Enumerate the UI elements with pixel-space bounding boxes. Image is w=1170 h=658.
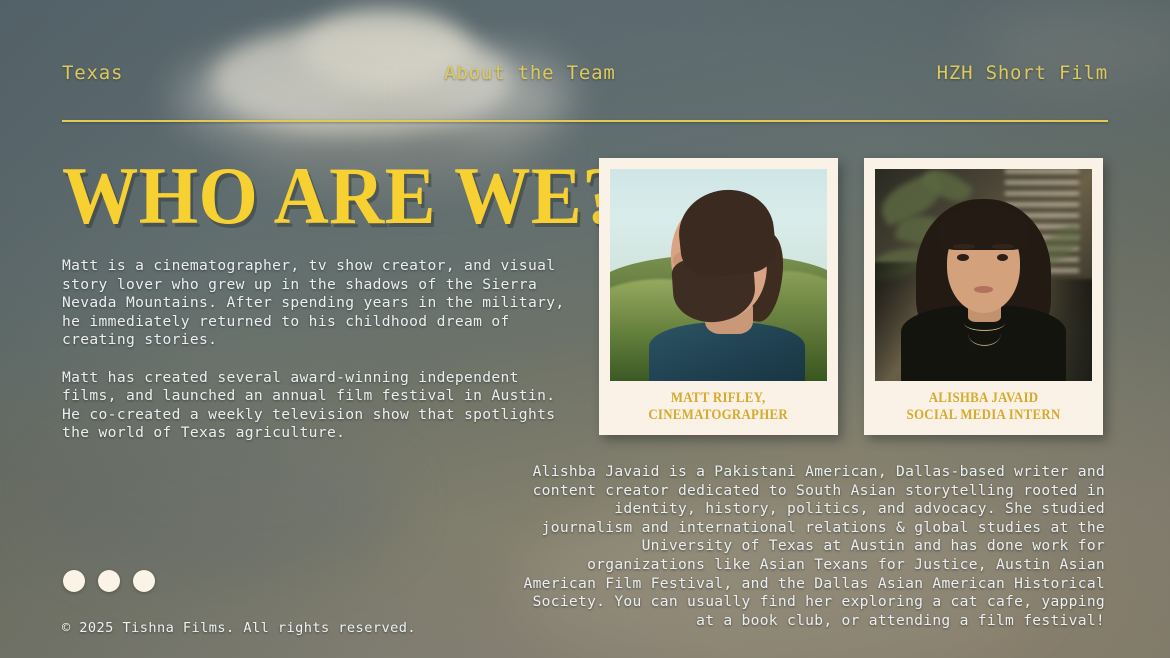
team-card-caption-matt: MATT RIFLEY, CINEMATOGRAPHER <box>649 381 789 435</box>
team-polaroid-gallery: MATT RIFLEY, CINEMATOGRAPHER <box>599 158 1103 435</box>
nav-link-texas[interactable]: Texas <box>62 62 123 84</box>
photo-eyebrow-left <box>953 244 975 249</box>
carousel-dot-2[interactable] <box>98 570 120 592</box>
photo-eyebrow-right <box>992 244 1014 249</box>
alishba-bio-paragraph: Alishba Javaid is a Pakistani American, … <box>520 463 1105 630</box>
carousel-dot-3[interactable] <box>133 570 155 592</box>
nav-link-hzh-short-film[interactable]: HZH Short Film <box>937 62 1108 84</box>
left-column: WHO ARE WE? Matt is a cinematographer, t… <box>62 158 582 443</box>
team-card-alishba-javaid[interactable]: ALISHBA JAVAID SOCIAL MEDIA INTERN <box>864 158 1103 435</box>
photo-necklace-lower <box>968 322 1001 346</box>
photo-alishba-javaid <box>875 169 1092 381</box>
carousel-dot-1[interactable] <box>63 570 85 592</box>
photo-hair-top <box>938 207 1029 249</box>
main-nav: Texas About the Team HZH Short Film <box>62 62 1108 84</box>
matt-bio-paragraph-2: Matt has created several award-winning i… <box>62 369 582 443</box>
carousel-dots <box>63 570 155 592</box>
nav-link-about-the-team[interactable]: About the Team <box>444 62 615 84</box>
team-card-caption-alishba: ALISHBA JAVAID SOCIAL MEDIA INTERN <box>906 381 1060 435</box>
matt-bio-block: Matt is a cinematographer, tv show creat… <box>62 257 582 443</box>
photo-lips <box>974 286 994 293</box>
page-root: Texas About the Team HZH Short Film WHO … <box>0 0 1170 658</box>
copyright-text: © 2025 Tishna Films. All rights reserved… <box>62 620 416 636</box>
page-title: WHO ARE WE? <box>62 158 546 233</box>
nav-divider-rule <box>62 120 1108 122</box>
matt-bio-paragraph-1: Matt is a cinematographer, tv show creat… <box>62 257 582 350</box>
team-card-matt-rifley[interactable]: MATT RIFLEY, CINEMATOGRAPHER <box>599 158 838 435</box>
photo-matt-rifley <box>610 169 827 381</box>
